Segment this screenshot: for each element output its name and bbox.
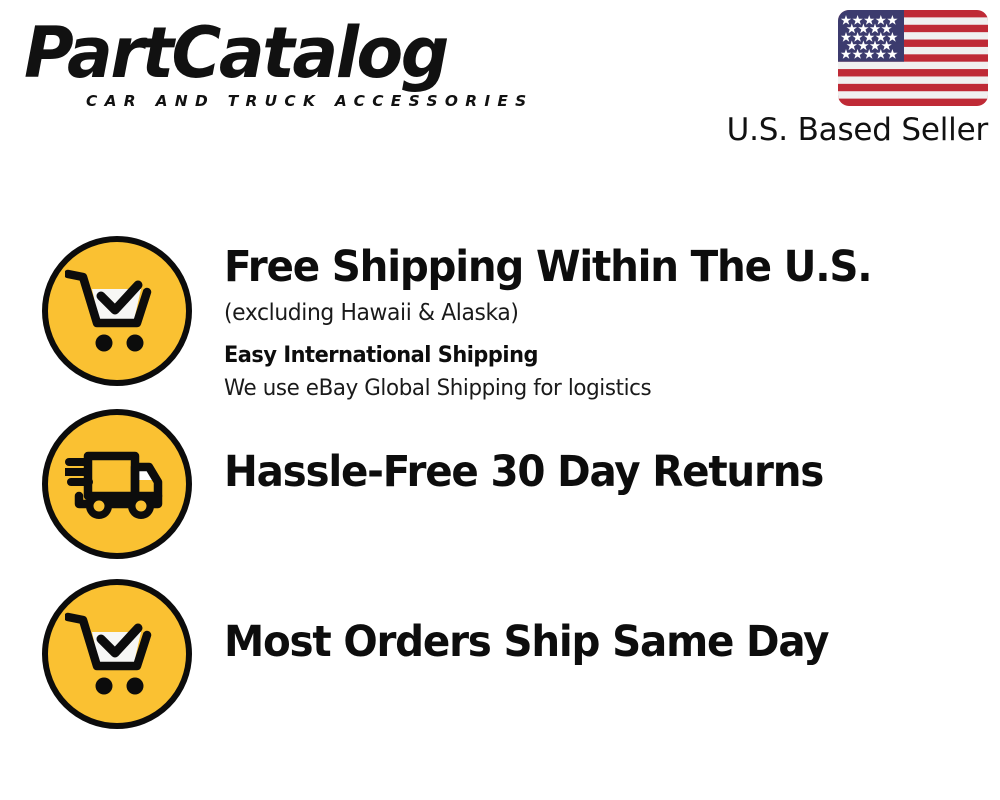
shopping-cart-check-icon (42, 236, 192, 386)
delivery-truck-icon (42, 409, 192, 559)
feature-text-block: Most Orders Ship Same Day (224, 579, 1000, 667)
feature-row: Hassle-Free 30 Day Returns (0, 409, 1000, 559)
us-flag-icon (838, 10, 988, 106)
page-header: PartCatalog CAR AND TRUCK ACCESSORIES (0, 0, 1000, 170)
feature-text-block: Free Shipping Within The U.S. (excluding… (224, 236, 1000, 404)
feature-subheading: Easy International Shipping (224, 341, 961, 371)
feature-title: Hassle-Free 30 Day Returns (224, 447, 953, 497)
brand-logo: PartCatalog CAR AND TRUCK ACCESSORIES (24, 18, 494, 113)
feature-row: Free Shipping Within The U.S. (excluding… (0, 236, 1000, 404)
feature-subtext: We use eBay Global Shipping for logistic… (224, 373, 961, 404)
feature-row: Most Orders Ship Same Day (0, 579, 1000, 729)
feature-title: Free Shipping Within The U.S. (224, 242, 953, 292)
shopping-cart-check-icon (42, 579, 192, 729)
seller-badge: U.S. Based Seller (658, 10, 988, 148)
brand-wordmark: PartCatalog (24, 18, 480, 88)
brand-tagline: CAR AND TRUCK ACCESSORIES (86, 92, 534, 110)
feature-text-block: Hassle-Free 30 Day Returns (224, 409, 1000, 497)
seller-badge-label: U.S. Based Seller (658, 112, 988, 148)
feature-title: Most Orders Ship Same Day (224, 617, 953, 667)
feature-note: (excluding Hawaii & Alaska) (224, 297, 961, 329)
